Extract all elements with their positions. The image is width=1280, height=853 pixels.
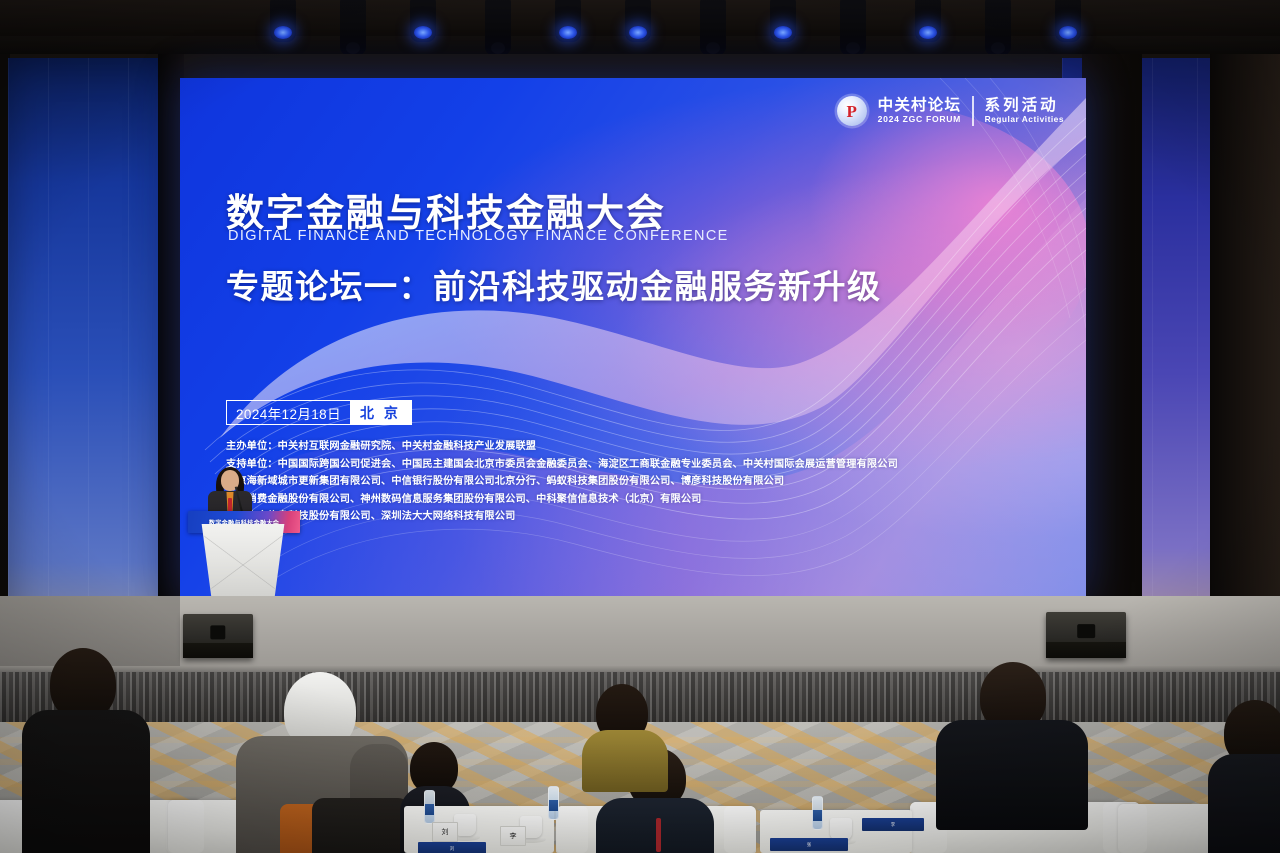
bottle-label (813, 810, 822, 821)
speaker-base (1046, 642, 1126, 658)
person-torso (596, 798, 714, 853)
audience-member (936, 662, 1088, 817)
audience-member (1208, 700, 1280, 853)
organizer-line: 上海合合信息科技股份有限公司、深圳法大大网络科技有限公司 (226, 508, 898, 526)
speaker-grille (1077, 624, 1095, 638)
stage-light-icon (700, 0, 726, 56)
stage-light-icon (840, 0, 866, 56)
bottle-label (425, 804, 434, 815)
name-place-card: 李 (500, 826, 526, 846)
nameplate-text: 刘 (450, 846, 455, 852)
stage-light-icon (770, 0, 796, 42)
forum-name-en: 2024 ZGC FORUM (878, 114, 961, 125)
nameplate-text: 李 (891, 822, 896, 828)
screen-mask-right (1082, 54, 1142, 614)
stage-light-icon (985, 0, 1011, 56)
series-name-cn: 系列活动 (985, 97, 1059, 114)
led-presentation-screen: P 中关村论坛 2024 ZGC FORUM 系列活动 Regular Acti… (180, 78, 1086, 596)
name-place-card: 刘 (432, 822, 458, 842)
tea-cup (830, 818, 852, 840)
organizer-line: 支持单位：中国国际跨国公司促进会、中国民主建国会北京市委员会金融委员会、海淀区工… (226, 456, 898, 474)
forum-badge-icon: P (837, 96, 867, 126)
series-name-en: Regular Activities (985, 114, 1064, 125)
sofa-arm (168, 800, 204, 853)
bottle-label (549, 800, 558, 811)
zgc-forum-logo: P 中关村论坛 2024 ZGC FORUM 系列活动 Regular Acti… (837, 96, 1064, 126)
table-nameplate: 李 (862, 818, 924, 831)
stage-light-icon (410, 0, 436, 42)
sofa-arm (0, 800, 24, 853)
person-lower-dark (312, 798, 410, 853)
conference-hall-scene: P 中关村论坛 2024 ZGC FORUM 系列活动 Regular Acti… (0, 0, 1280, 853)
date-location-badge: 2024年12月18日 北 京 (226, 400, 412, 425)
forum-badge-mark: P (846, 103, 856, 120)
sofa-arm (724, 806, 756, 853)
stage-light-icon (485, 0, 511, 56)
stage-light-icon (625, 0, 651, 42)
organizer-line: 马上消费金融股份有限公司、神州数码信息服务集团股份有限公司、中科聚信信息技术（北… (226, 491, 898, 509)
stage-monitor-speaker (183, 614, 253, 658)
water-bottle (424, 790, 435, 824)
person-torso (22, 710, 150, 853)
person-torso (582, 730, 668, 792)
stage-light-icon (270, 0, 296, 42)
audience-member (232, 672, 412, 853)
person-lanyard (656, 818, 661, 852)
place-card-text: 李 (510, 831, 517, 841)
place-card-text: 刘 (442, 827, 449, 837)
stage-monitor-speaker (1046, 612, 1126, 658)
person-torso (1208, 754, 1280, 853)
event-date: 2024年12月18日 (227, 401, 350, 424)
conference-title-en: DIGITAL FINANCE AND TECHNOLOGY FINANCE C… (228, 228, 729, 244)
organizer-line: 北京海新域城市更新集团有限公司、中信银行股份有限公司北京分行、蚂蚁科技集团股份有… (226, 473, 898, 491)
nameplate-text: 张 (807, 842, 812, 848)
logo-divider (972, 96, 973, 126)
stage-light-icon (915, 0, 941, 42)
audience-member (582, 684, 668, 784)
speaker-base (183, 643, 253, 658)
person-torso (936, 720, 1088, 830)
event-city: 北 京 (350, 401, 411, 424)
table-nameplate: 张 (770, 838, 848, 851)
forum-subtitle-cn: 专题论坛一：前沿科技驱动金融服务新升级 (226, 260, 882, 308)
stage-light-icon (1055, 0, 1081, 42)
audience-member (22, 648, 150, 853)
sofa-arm (1118, 804, 1147, 853)
table-nameplate: 刘 (418, 842, 486, 853)
organizer-list: 主办单位：中关村互联网金融研究院、中关村金融科技产业发展联盟 支持单位：中国国际… (226, 438, 898, 526)
forum-name-cn: 中关村论坛 (878, 97, 962, 114)
speaker-grille (210, 626, 225, 639)
water-bottle (812, 796, 823, 830)
stage-light-icon (340, 0, 366, 56)
sofa-arm (556, 806, 588, 853)
stage-light-icon (555, 0, 581, 42)
water-bottle (548, 786, 559, 820)
organizer-line: 主办单位：中关村互联网金融研究院、中关村金融科技产业发展联盟 (226, 438, 898, 456)
